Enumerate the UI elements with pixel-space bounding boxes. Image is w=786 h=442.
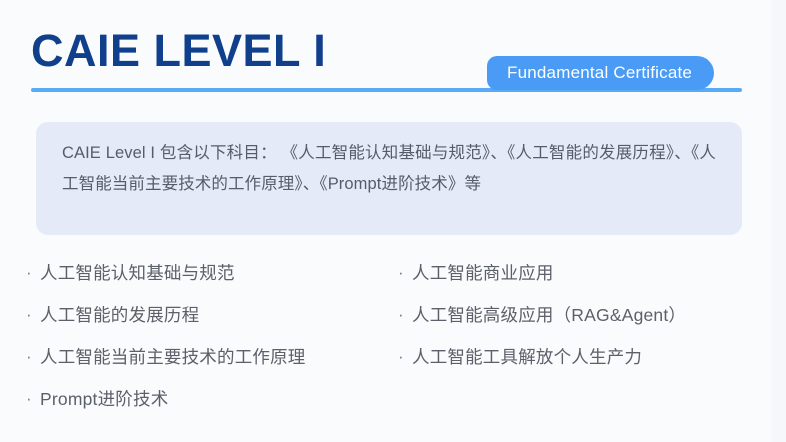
list-item-label: 人工智能当前主要技术的工作原理 [40,336,306,378]
bullet-dot-icon: · [26,378,40,420]
list-item: · 人工智能高级应用（RAG&Agent） [398,294,758,336]
list-item: · 人工智能当前主要技术的工作原理 [26,336,396,378]
list-item: · Prompt进阶技术 [26,378,396,420]
bullet-dot-icon: · [398,336,412,378]
list-item: · 人工智能工具解放个人生产力 [398,336,758,378]
page-title: CAIE LEVEL I [31,22,326,80]
slide-header: CAIE LEVEL I Fundamental Certificate [0,0,771,100]
certificate-level-badge-label: Fundamental Certificate [507,63,692,83]
list-item-label: 人工智能的发展历程 [40,294,199,336]
list-item: · 人工智能商业应用 [398,252,758,294]
certificate-level-badge: Fundamental Certificate [487,56,714,90]
bullet-dot-icon: · [26,252,40,294]
list-item: · 人工智能的发展历程 [26,294,396,336]
description-callout: CAIE Level I 包含以下科目： 《人工智能认知基础与规范》、《人工智能… [36,122,742,235]
list-item-label: 人工智能工具解放个人生产力 [412,336,642,378]
bullet-dot-icon: · [398,294,412,336]
subject-column-right: · 人工智能商业应用 · 人工智能高级应用（RAG&Agent） · 人工智能工… [398,252,758,378]
slide-canvas: CAIE LEVEL I Fundamental Certificate CAI… [0,0,786,442]
slide-right-edge [771,0,786,442]
list-item-label: 人工智能商业应用 [412,252,554,294]
list-item-label: Prompt进阶技术 [40,378,168,420]
list-item-label: 人工智能认知基础与规范 [40,252,235,294]
bullet-dot-icon: · [26,294,40,336]
description-text: CAIE Level I 包含以下科目： 《人工智能认知基础与规范》、《人工智能… [62,138,716,200]
subject-column-left: · 人工智能认知基础与规范 · 人工智能的发展历程 · 人工智能当前主要技术的工… [26,252,396,420]
list-item: · 人工智能认知基础与规范 [26,252,396,294]
bullet-dot-icon: · [26,336,40,378]
bullet-dot-icon: · [398,252,412,294]
list-item-label: 人工智能高级应用（RAG&Agent） [412,294,686,336]
subject-list: · 人工智能认知基础与规范 · 人工智能的发展历程 · 人工智能当前主要技术的工… [0,252,771,432]
